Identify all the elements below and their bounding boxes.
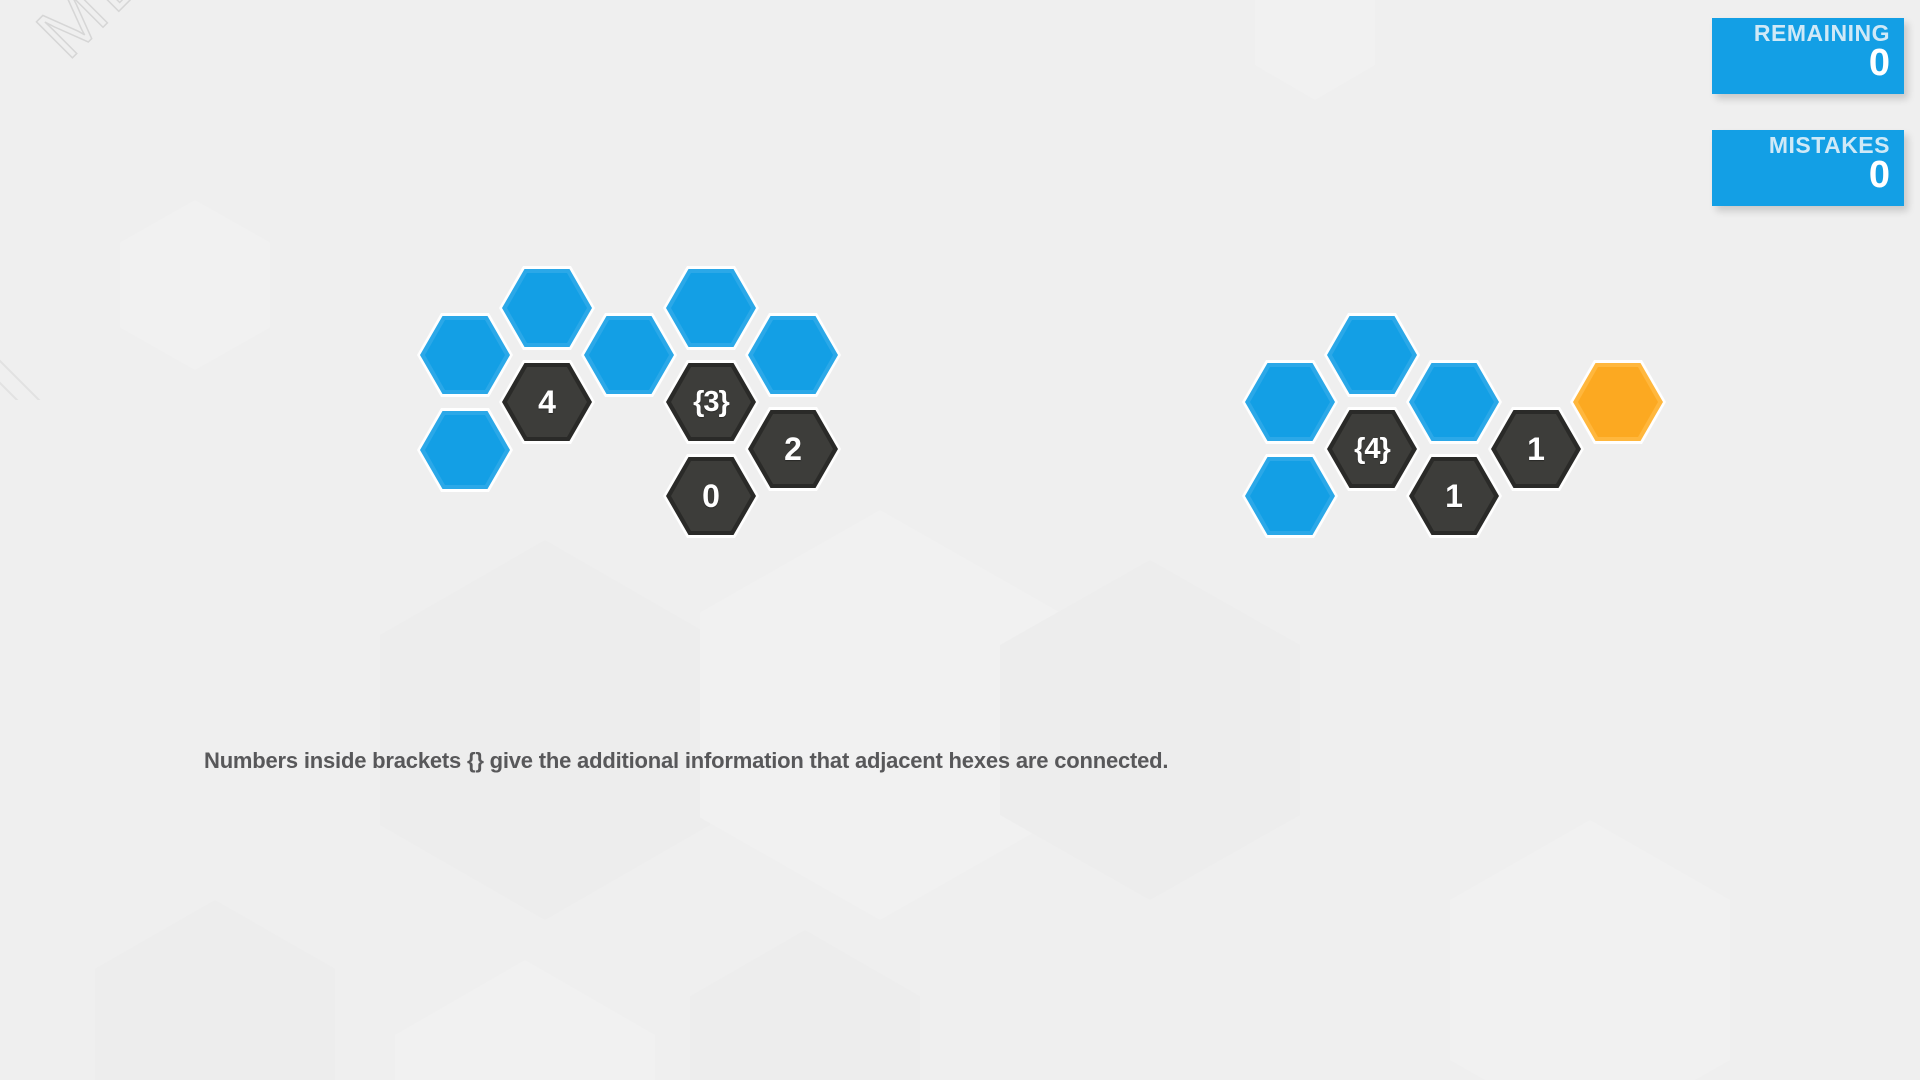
instruction-text: Numbers inside brackets {} give the addi… xyxy=(204,748,1168,774)
corner-stripe-5 xyxy=(0,188,306,400)
corner-stripe-4 xyxy=(0,166,306,400)
background-hex-1 xyxy=(120,200,270,370)
cell-l10[interactable]: 0 xyxy=(663,454,759,538)
hex-value: 2 xyxy=(784,433,802,465)
background-hex-6 xyxy=(95,900,335,1080)
hex-value: {4} xyxy=(1354,435,1390,464)
cell-r8[interactable] xyxy=(1570,360,1666,444)
background-hex-2 xyxy=(1255,0,1375,100)
background-hex-8 xyxy=(690,930,920,1080)
remaining-value: 0 xyxy=(1712,43,1890,83)
game-screen: MENU LEVEL 16 REMAINING 0 MISTAKES 0 4{3… xyxy=(0,0,1920,1080)
background-hex-4 xyxy=(700,510,1060,920)
hex-value: {3} xyxy=(693,388,729,417)
background-hex-5 xyxy=(1000,560,1300,900)
mistakes-panel: MISTAKES 0 xyxy=(1712,130,1904,206)
hex-value: 1 xyxy=(1445,480,1463,512)
background-hex-9 xyxy=(1450,820,1730,1080)
hex-value: 1 xyxy=(1527,433,1545,465)
remaining-panel: REMAINING 0 xyxy=(1712,18,1904,94)
corner-stripe-1 xyxy=(0,100,306,400)
cell-l9[interactable]: 2 xyxy=(745,407,841,491)
hex-value: 0 xyxy=(702,480,720,512)
background-hex-3 xyxy=(380,540,710,920)
background-hex-7 xyxy=(395,960,655,1080)
corner-stripe-2 xyxy=(0,122,306,400)
hex-value: 4 xyxy=(538,386,556,418)
cell-l7[interactable]: 4 xyxy=(499,360,595,444)
corner-stripe-decoration xyxy=(0,0,400,400)
corner-stripe-3 xyxy=(0,144,306,400)
mistakes-value: 0 xyxy=(1712,155,1890,195)
menu-button[interactable]: MENU xyxy=(20,0,245,74)
cell-l5[interactable] xyxy=(745,313,841,397)
